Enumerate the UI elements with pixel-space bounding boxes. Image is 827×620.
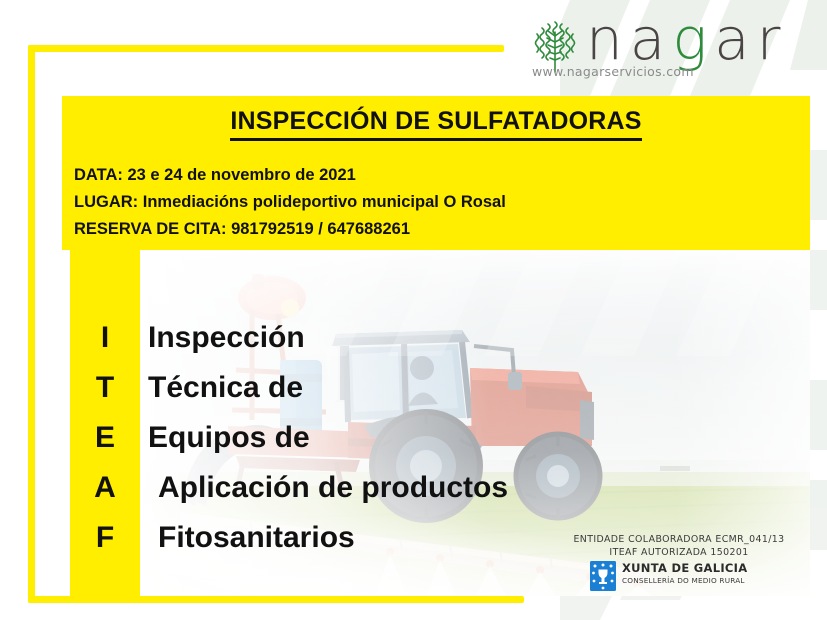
event-location-line: LUGAR: Inmediacións polideportivo munici… <box>74 189 804 216</box>
header-panel: INSPECCIÓN DE SULFATADORAS DATA: 23 e 24… <box>62 96 810 250</box>
acronym-letter-e: E <box>70 413 140 463</box>
collaborating-entity-code: ENTIDADE COLABORADORA ECMR_041/13 <box>556 533 802 546</box>
wordmark-part-2: ar <box>714 5 787 73</box>
credentials-block: ENTIDADE COLABORADORA ECMR_041/13 ITEAF … <box>556 533 802 593</box>
xunta-galicia-icon <box>590 561 616 591</box>
poster-canvas: nagar www.nagarservicios.com INSPECCIÓN … <box>0 0 827 620</box>
page-title-text: INSPECCIÓN DE SULFATADORAS <box>230 107 641 141</box>
iteaf-authorization-code: ITEAF AUTORIZADA 150201 <box>556 546 802 559</box>
acronym-word-aplicacion: Aplicación de productos <box>148 463 668 513</box>
acronym-word-equipos: Equipos de <box>148 413 668 463</box>
nagar-logo[interactable]: nagar www.nagarservicios.com <box>518 14 800 86</box>
acronym-word-tecnica: Técnica de <box>148 363 668 413</box>
acronym-letter-a: A <box>70 463 140 513</box>
xunta-logo: XUNTA DE GALICIA CONSELLERÍA DO MEDIO RU… <box>590 561 802 593</box>
frame-line-left <box>28 45 35 603</box>
event-booking-line: RESERVA DE CITA: 981792519 / 647688261 <box>74 216 804 243</box>
xunta-text-block: XUNTA DE GALICIA CONSELLERÍA DO MEDIO RU… <box>622 562 747 586</box>
acronym-letter-f: F <box>70 513 140 563</box>
acronym-letter-t: T <box>70 363 140 413</box>
xunta-name: XUNTA DE GALICIA <box>622 562 747 575</box>
acronym-letters: I T E A F <box>70 313 140 563</box>
xunta-department: CONSELLERÍA DO MEDIO RURAL <box>622 575 747 586</box>
event-details: DATA: 23 e 24 de novembro de 2021 LUGAR:… <box>74 162 804 243</box>
frame-line-bottom <box>28 596 524 603</box>
event-date-line: DATA: 23 e 24 de novembro de 2021 <box>74 162 804 189</box>
wordmark-part-1: na <box>586 5 672 73</box>
frame-line-top <box>28 45 504 52</box>
acronym-letter-i: I <box>70 313 140 363</box>
wordmark-letter-g: g <box>672 5 714 73</box>
acronym-word-inspeccion: Inspección <box>148 313 668 363</box>
nagar-website-url[interactable]: www.nagarservicios.com <box>532 64 694 79</box>
nagar-wordmark: nagar <box>586 8 788 72</box>
acronym-words: Inspección Técnica de Equipos de Aplicac… <box>148 313 668 563</box>
page-title: INSPECCIÓN DE SULFATADORAS <box>62 107 810 136</box>
